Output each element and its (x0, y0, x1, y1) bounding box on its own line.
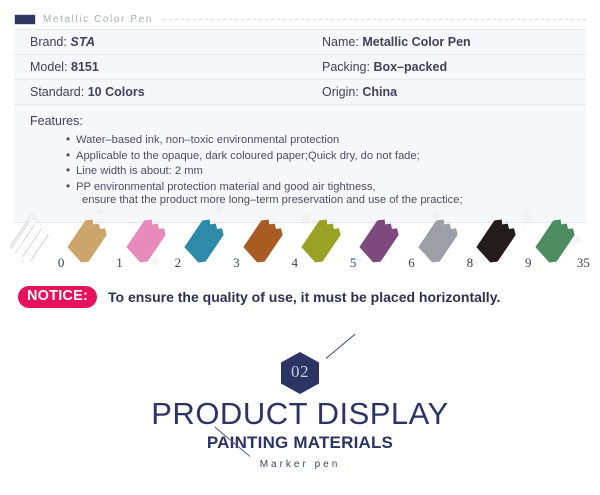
spec-cell-brand: Brand: STA (14, 35, 304, 49)
spec-row: Model: 8151 Packing: Box–packed (14, 55, 586, 80)
spec-value-origin: China (362, 85, 397, 99)
color-swatch[interactable]: 6 (358, 212, 416, 274)
spec-value-standard: 10 Colors (88, 85, 145, 99)
notice-text: To ensure the quality of use, it must be… (108, 289, 500, 305)
spec-label-origin: Origin: (322, 85, 359, 99)
swatch-number: 3 (233, 255, 240, 271)
page-caption: Marker pen (0, 459, 600, 470)
hexagon-badge-icon: 02 (281, 352, 319, 394)
spec-label-standard: Standard: (30, 85, 84, 99)
product-display-section: 02 PRODUCT DISPLAY PAINTING MATERIALS Ma… (0, 352, 600, 470)
color-swatch[interactable]: 5 (300, 212, 358, 274)
feature-text: PP environmental protection material and… (76, 181, 376, 193)
diagonal-accent-line-top (326, 334, 356, 359)
page-title: PRODUCT DISPLAY (0, 396, 600, 432)
color-swatch-band: ❄ ❄ ❄ ❄ ❄ ❄ ❄ ❄ ❄ ❄ 0 1 2 3 4 (0, 204, 600, 276)
feature-text: Line width is about: 2 mm (76, 165, 203, 177)
spec-cell-name: Name: Metallic Color Pen (304, 35, 471, 49)
navy-rectangle-badge-icon (14, 14, 36, 25)
color-swatch[interactable]: 8 (417, 212, 475, 274)
spec-cell-standard: Standard: 10 Colors (14, 85, 304, 99)
feature-item: Applicable to the opaque, dark coloured … (30, 150, 586, 164)
marker-stroke-icon (415, 216, 460, 265)
marker-stroke-icon (298, 216, 343, 265)
spec-label-name: Name: (322, 35, 359, 49)
color-swatch[interactable]: 0 (8, 212, 66, 274)
color-swatch[interactable]: 9 (475, 212, 533, 274)
marker-stroke-icon (357, 216, 402, 265)
spec-value-packing: Box–packed (373, 60, 447, 74)
color-swatch[interactable]: 1 (66, 212, 124, 274)
page-subtitle: PAINTING MATERIALS (0, 433, 600, 453)
spec-value-brand: STA (70, 35, 95, 49)
color-swatch-list: 0 1 2 3 4 5 6 8 (0, 204, 600, 276)
color-swatch[interactable]: 35 (534, 212, 592, 274)
swatch-number: 1 (116, 255, 123, 271)
header-divider (163, 19, 586, 20)
notice-badge: NOTICE: (18, 286, 97, 308)
spec-label-packing: Packing: (322, 60, 370, 74)
marker-stroke-icon (240, 216, 285, 265)
color-swatch[interactable]: 2 (125, 212, 183, 274)
spec-value-name: Metallic Color Pen (362, 35, 470, 49)
feature-text: Applicable to the opaque, dark coloured … (76, 150, 420, 162)
marker-stroke-icon (65, 216, 110, 265)
swatch-number: 5 (350, 255, 357, 271)
features-list: Water–based ink, non–toxic environmental… (30, 134, 586, 208)
swatch-number: 4 (291, 255, 298, 271)
marker-stroke-icon (532, 216, 577, 265)
spec-label-brand: Brand: (30, 35, 67, 49)
spec-row: Brand: STA Name: Metallic Color Pen (14, 30, 586, 55)
marker-stroke-icon (123, 216, 168, 265)
marker-stroke-icon (182, 216, 227, 265)
swatch-number: 8 (467, 255, 474, 271)
swatch-number: 9 (525, 255, 532, 271)
marker-stroke-icon (6, 216, 51, 265)
section-number: 02 (291, 362, 309, 382)
swatch-number: 0 (58, 255, 65, 271)
spec-cell-origin: Origin: China (304, 85, 397, 99)
spec-value-model: 8151 (71, 60, 99, 74)
feature-item: Line width is about: 2 mm (30, 165, 586, 179)
section-number-badge: 02 (0, 352, 600, 390)
color-swatch[interactable]: 4 (242, 212, 300, 274)
marker-stroke-icon (474, 216, 519, 265)
specification-panel: Brand: STA Name: Metallic Color Pen Mode… (14, 29, 586, 223)
spec-row: Standard: 10 Colors Origin: China (14, 80, 586, 105)
spec-label-model: Model: (30, 60, 68, 74)
spec-cell-model: Model: 8151 (14, 60, 304, 74)
notice-banner: NOTICE: To ensure the quality of use, it… (18, 286, 500, 308)
feature-item: Water–based ink, non–toxic environmental… (30, 134, 586, 148)
page-header: Metallic Color Pen (14, 10, 586, 28)
spec-cell-packing: Packing: Box–packed (304, 60, 447, 74)
feature-text: Water–based ink, non–toxic environmental… (76, 134, 339, 146)
swatch-number: 6 (408, 255, 415, 271)
color-swatch[interactable]: 3 (183, 212, 241, 274)
features-title: Features: (30, 114, 586, 128)
swatch-number: 2 (175, 255, 182, 271)
header-title: Metallic Color Pen (43, 14, 153, 25)
swatch-number: 35 (577, 255, 590, 271)
